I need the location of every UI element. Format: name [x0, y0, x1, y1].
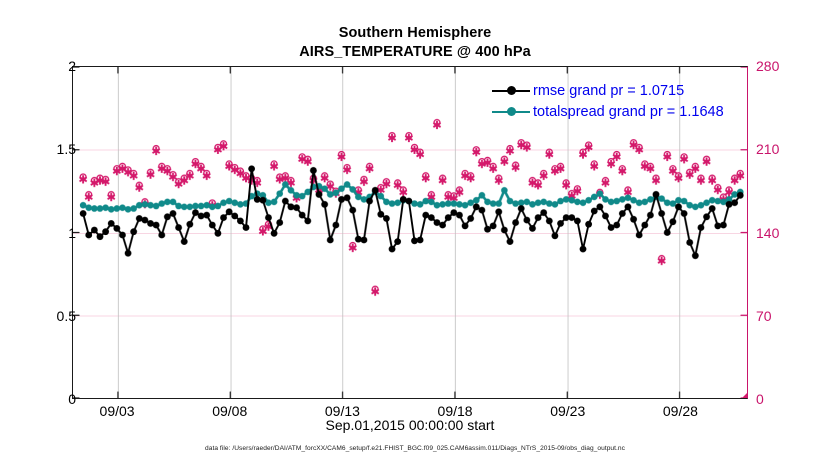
y-tick-right-1: 70	[756, 308, 772, 324]
figure-root: Southern Hemisphere AIRS_TEMPERATURE @ 4…	[0, 0, 830, 470]
legend-marker-totalspread-icon	[492, 105, 530, 119]
y-tick-left-0: 0	[68, 391, 76, 407]
chart-title-line-2: AIRS_TEMPERATURE @ 400 hPa	[0, 43, 830, 62]
y-tick-right-0: 0	[756, 391, 764, 407]
chart-title-line-1: Southern Hemisphere	[0, 24, 830, 43]
legend-label-rmse: rmse grand pr = 1.0715	[533, 82, 684, 100]
x-axis-label: Sep.01,2015 00:00:00 start	[72, 417, 748, 433]
x-tick-5: 09/28	[663, 403, 698, 419]
y-axis-label-right: # of obs: o=possible; ×=assimilated	[803, 0, 818, 52]
y-tick-right-2: 140	[756, 225, 779, 241]
y-tick-left-3: 1.5	[57, 141, 76, 157]
legend-entry-totalspread: totalspread grand pr = 1.1648	[492, 101, 724, 122]
x-tick-2: 09/13	[325, 403, 360, 419]
x-tick-3: 09/18	[438, 403, 473, 419]
legend-entry-rmse: rmse grand pr = 1.0715	[492, 80, 724, 101]
chart-title-block: Southern Hemisphere AIRS_TEMPERATURE @ 4…	[0, 24, 830, 62]
x-tick-1: 09/08	[212, 403, 247, 419]
legend-marker-rmse-icon	[492, 84, 530, 98]
x-tick-0: 09/03	[100, 403, 135, 419]
y-tick-left-4: 2	[68, 58, 76, 74]
y-tick-left-1: 0.5	[57, 308, 76, 324]
x-tick-4: 09/23	[550, 403, 585, 419]
legend-label-totalspread: totalspread grand pr = 1.1648	[533, 103, 724, 121]
y-tick-right-3: 210	[756, 141, 779, 157]
y-tick-right-4: 280	[756, 58, 779, 74]
data-file-caption: data file: /Users/raeder/DAI/ATM_forcXX/…	[0, 445, 830, 452]
chart-legend: rmse grand pr = 1.0715 totalspread grand…	[490, 78, 728, 124]
y-tick-left-2: 1	[68, 225, 76, 241]
